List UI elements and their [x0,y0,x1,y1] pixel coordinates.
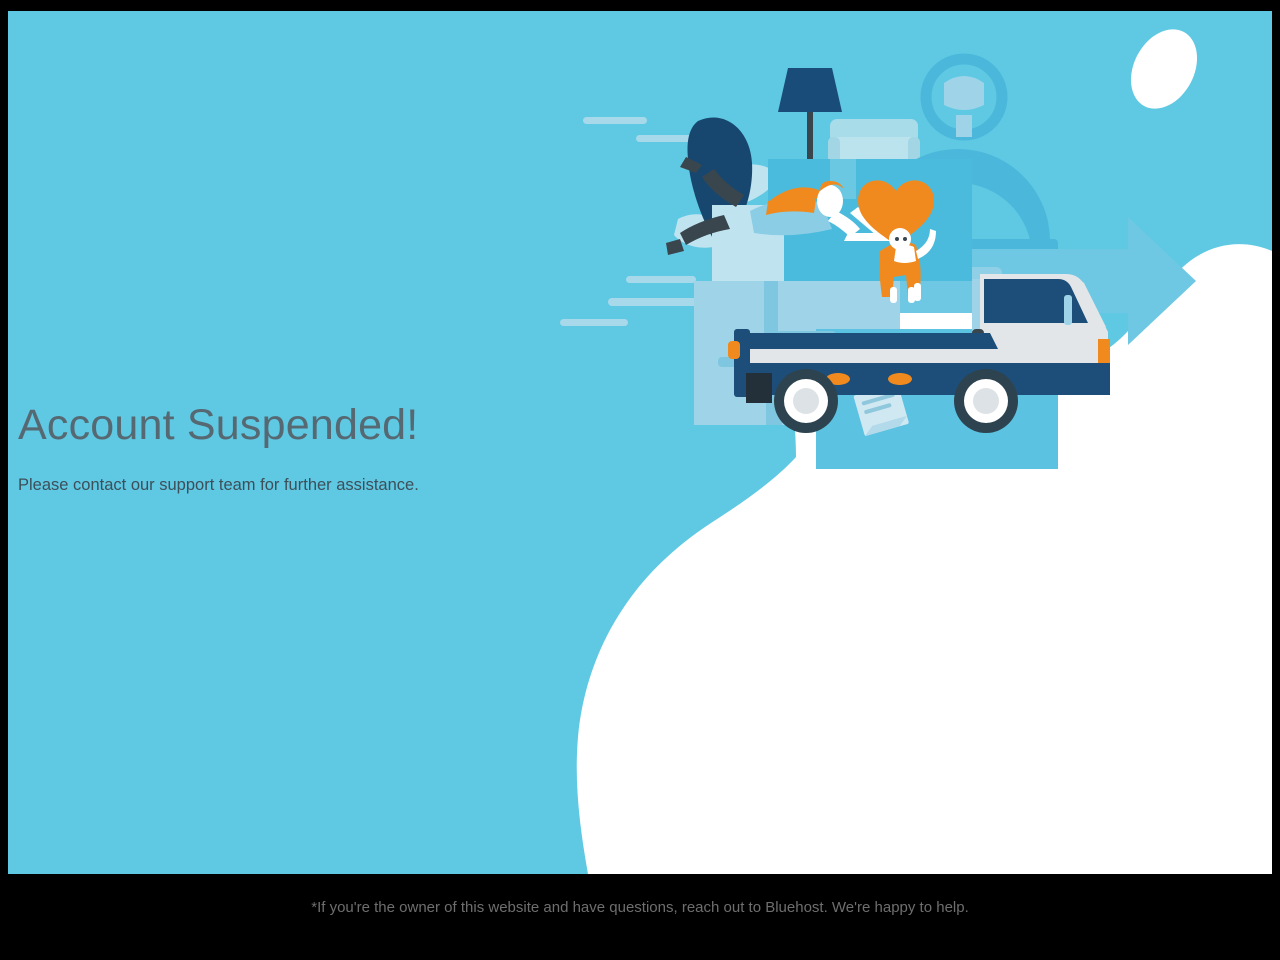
mirror-circle [926,59,1002,137]
owner-note: *If you're the owner of this website and… [0,899,1280,916]
footer-bar: *If you're the owner of this website and… [0,874,1280,960]
message-block: Account Suspended! Please contact our su… [18,401,578,497]
page-root: Account Suspended! Please contact our su… [0,0,1280,960]
wheel-front [954,369,1018,433]
page-title: Account Suspended! [18,401,578,449]
moving-house-illustration [528,11,1272,874]
wheel-rear [774,369,838,433]
page-subtitle: Please contact our support team for furt… [18,475,578,496]
hero-panel: Account Suspended! Please contact our su… [8,11,1272,874]
white-ellipse [1118,18,1210,120]
